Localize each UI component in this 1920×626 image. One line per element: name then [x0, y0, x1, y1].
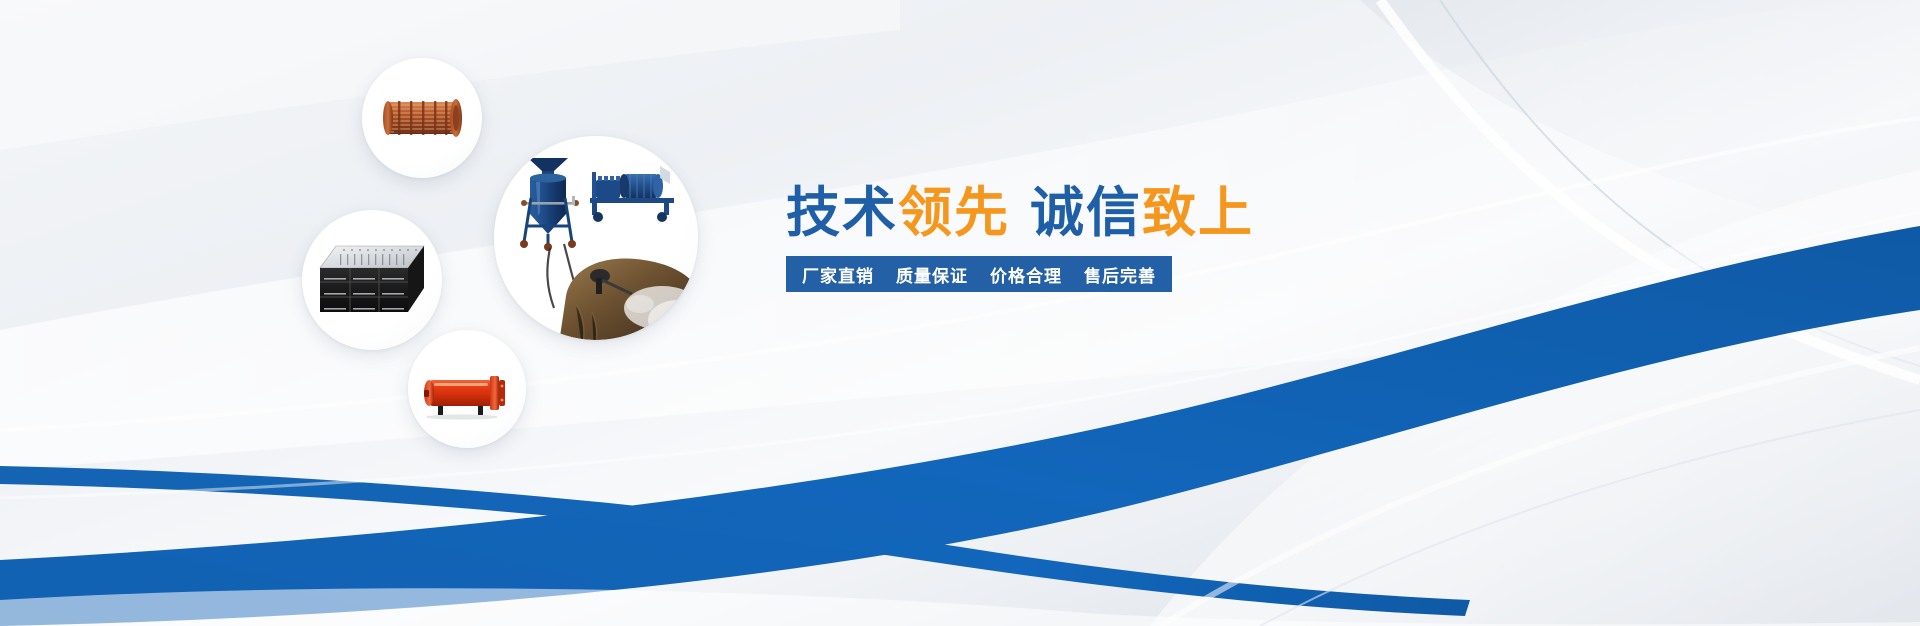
product-circle-finned-cooler-block — [302, 210, 442, 350]
selling-point-3: 价格合理 — [990, 262, 1062, 287]
headline-segment-3: 诚信 — [1030, 186, 1142, 240]
selling-point-1: 厂家直销 — [802, 262, 874, 287]
selling-points-bar: 厂家直销 质量保证 价格合理 售后完善 — [786, 256, 1172, 292]
finned-cooler-block-icon — [302, 210, 442, 350]
copper-tube-bundle-icon — [362, 58, 482, 178]
selling-point-2: 质量保证 — [896, 262, 968, 287]
promo-banner: 技术领先诚信致上 厂家直销 质量保证 价格合理 售后完善 — [0, 0, 1920, 626]
product-circle-sandblast-and-pipe-cleaning — [494, 136, 698, 340]
headline-segment-1: 技术 — [786, 186, 898, 240]
headline: 技术领先诚信致上 — [786, 186, 1254, 240]
product-circle-red-cylinder-tank — [408, 330, 526, 448]
sandblast-pot-and-pipe-cleaning-icon — [494, 136, 698, 340]
headline-segment-2: 领先 — [898, 186, 1010, 240]
background-decoration — [0, 0, 1920, 626]
headline-segment-4: 致上 — [1142, 186, 1254, 240]
product-circle-copper-tube-bundle — [362, 58, 482, 178]
selling-point-4: 售后完善 — [1084, 262, 1156, 287]
red-cylinder-tank-icon — [408, 330, 526, 448]
